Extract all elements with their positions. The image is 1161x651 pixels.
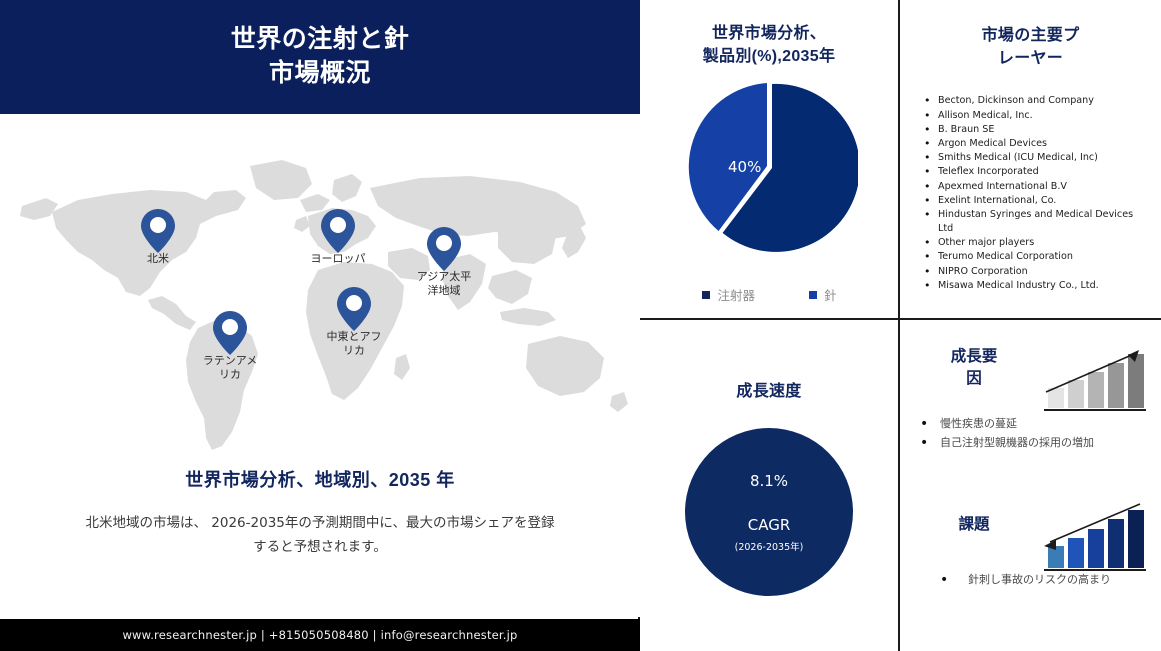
list-item: Hindustan Syringes and Medical Devices L… — [922, 208, 1151, 236]
world-map: 北米 ヨーロッパ アジア太平洋地域 — [0, 120, 640, 460]
growth-rate-title: 成長速度 — [640, 380, 898, 403]
page-title-line2: 市場概況 — [231, 57, 410, 91]
list-item: Terumo Medical Corporation — [922, 250, 1151, 264]
list-item: 針刺し事故のリスクの高まり — [912, 572, 1148, 589]
list-item: NIPRO Corporation — [922, 265, 1151, 279]
drivers-title-line2: 因 — [926, 368, 1022, 390]
list-item: 慢性疾患の蔓延 — [912, 416, 1148, 433]
pie-title-line2: 製品別(%),2035年 — [662, 45, 876, 68]
map-pin-north-america[interactable]: 北米 — [140, 208, 176, 254]
growth-drivers-header: 成長要 因 — [900, 342, 1161, 416]
pie-chart-svg — [682, 80, 858, 256]
list-item: Argon Medical Devices — [922, 137, 1151, 151]
page-title: 世界の注射と針 市場概況 — [231, 23, 410, 91]
list-item: Becton, Dickinson and Company — [922, 94, 1151, 108]
key-players-panel: 市場の主要プ レーヤー Becton, Dickinson and Compan… — [899, 0, 1161, 319]
list-item: Other major players — [922, 236, 1151, 250]
challenges-header: 課題 — [900, 498, 1161, 572]
pie-title-line1: 世界市場分析、 — [662, 22, 876, 45]
map-pin-icon — [212, 310, 248, 356]
list-item: B. Braun SE — [922, 123, 1151, 137]
header-banner: 世界の注射と針 市場概況 — [0, 0, 640, 114]
legend-item-syringes: 注射器 — [702, 285, 755, 304]
pie-slice-value-label: 40% — [728, 158, 761, 176]
growth-drivers-title: 成長要 因 — [926, 346, 1022, 391]
challenges-title: 課題 — [926, 514, 1022, 536]
map-pin-europe[interactable]: ヨーロッパ — [320, 208, 356, 254]
map-panel: 北米 ヨーロッパ アジア太平洋地域 — [0, 114, 640, 617]
list-item: Misawa Medical Industry Co., Ltd. — [922, 279, 1151, 293]
legend-label-needles: 針 — [824, 285, 837, 304]
map-label-north-america: 北米 — [135, 252, 181, 266]
map-pin-asia-pacific[interactable]: アジア太平洋地域 — [426, 226, 462, 272]
cagr-period: (2026-2035年) — [735, 539, 804, 553]
list-item: Teleflex Incorporated — [922, 165, 1151, 179]
growth-drivers-block: 成長要 因 慢性疾患の蔓延 自己注射型親機器の採用の増加 — [900, 342, 1161, 492]
drivers-title-line1: 成長要 — [926, 346, 1022, 368]
infographic-page: 世界の注射と針 市場概況 — [0, 0, 1161, 651]
map-label-europe: ヨーロッパ — [310, 252, 366, 266]
footer-bar: www.researchnester.jp | +815050508480 | … — [0, 619, 640, 651]
world-map-graphic — [0, 120, 640, 460]
map-pin-latin-america[interactable]: ラテンアメリカ — [212, 310, 248, 356]
pie-chart-legend: 注射器 針 — [640, 285, 899, 304]
map-pin-icon — [140, 208, 176, 254]
legend-swatch-icon — [809, 291, 817, 299]
cagr-label: CAGR — [748, 516, 791, 534]
growth-rate-panel: 成長速度 8.1% CAGR (2026-2035年) — [640, 319, 899, 651]
cagr-percent-value: 8.1% — [750, 472, 788, 490]
players-title-line2: レーヤー — [934, 47, 1127, 70]
players-title-line1: 市場の主要プ — [934, 24, 1127, 47]
key-players-title: 市場の主要プ レーヤー — [900, 24, 1161, 70]
map-pin-icon — [426, 226, 462, 272]
map-label-latin-america: ラテンアメリカ — [202, 354, 258, 382]
challenges-block: 課題 針刺し事故のリスクの高まり — [900, 498, 1161, 651]
list-item: Allison Medical, Inc. — [922, 109, 1151, 123]
legend-swatch-icon — [702, 291, 710, 299]
pie-chart-panel: 世界市場分析、 製品別(%),2035年 40% 注射器 針 — [640, 0, 899, 319]
list-item: Apexmed International B.V — [922, 180, 1151, 194]
cagr-circle: 8.1% CAGR (2026-2035年) — [685, 428, 853, 596]
pie-chart-graphic: 40% — [640, 80, 899, 255]
key-players-list: Becton, Dickinson and Company Allison Me… — [900, 94, 1161, 293]
left-column: 世界の注射と針 市場概況 — [0, 0, 640, 651]
region-analysis-description: 北米地域の市場は、 2026-2035年の予測期間中に、最大の市場シェアを登録す… — [80, 512, 560, 559]
map-label-middle-east-africa: 中東とアフリカ — [323, 330, 385, 358]
drivers-and-challenges-panel: 成長要 因 慢性疾患の蔓延 自己注射型親機器の採用の増加 — [899, 319, 1161, 651]
map-pin-middle-east-africa[interactable]: 中東とアフリカ — [336, 286, 372, 332]
challenges-list: 針刺し事故のリスクの高まり — [900, 572, 1161, 589]
map-label-asia-pacific: アジア太平洋地域 — [413, 270, 475, 298]
legend-label-syringes: 注射器 — [717, 285, 755, 304]
growth-drivers-list: 慢性疾患の蔓延 自己注射型親機器の採用の増加 — [900, 416, 1161, 451]
list-item: Exelint International, Co. — [922, 194, 1151, 208]
list-item: Smiths Medical (ICU Medical, Inc) — [922, 151, 1151, 165]
region-analysis-title: 世界市場分析、地域別、2035 年 — [0, 466, 640, 492]
map-pin-icon — [336, 286, 372, 332]
pie-chart-title: 世界市場分析、 製品別(%),2035年 — [640, 22, 898, 68]
challenge-trend-bar-chart-icon — [1040, 498, 1148, 574]
legend-item-needles: 針 — [809, 285, 837, 304]
map-pin-icon — [320, 208, 356, 254]
list-item: 自己注射型親機器の採用の増加 — [912, 435, 1148, 452]
footer-contact-text: www.researchnester.jp | +815050508480 | … — [122, 628, 517, 642]
page-title-line1: 世界の注射と針 — [231, 25, 410, 53]
growth-trend-bar-chart-icon — [1040, 342, 1148, 414]
